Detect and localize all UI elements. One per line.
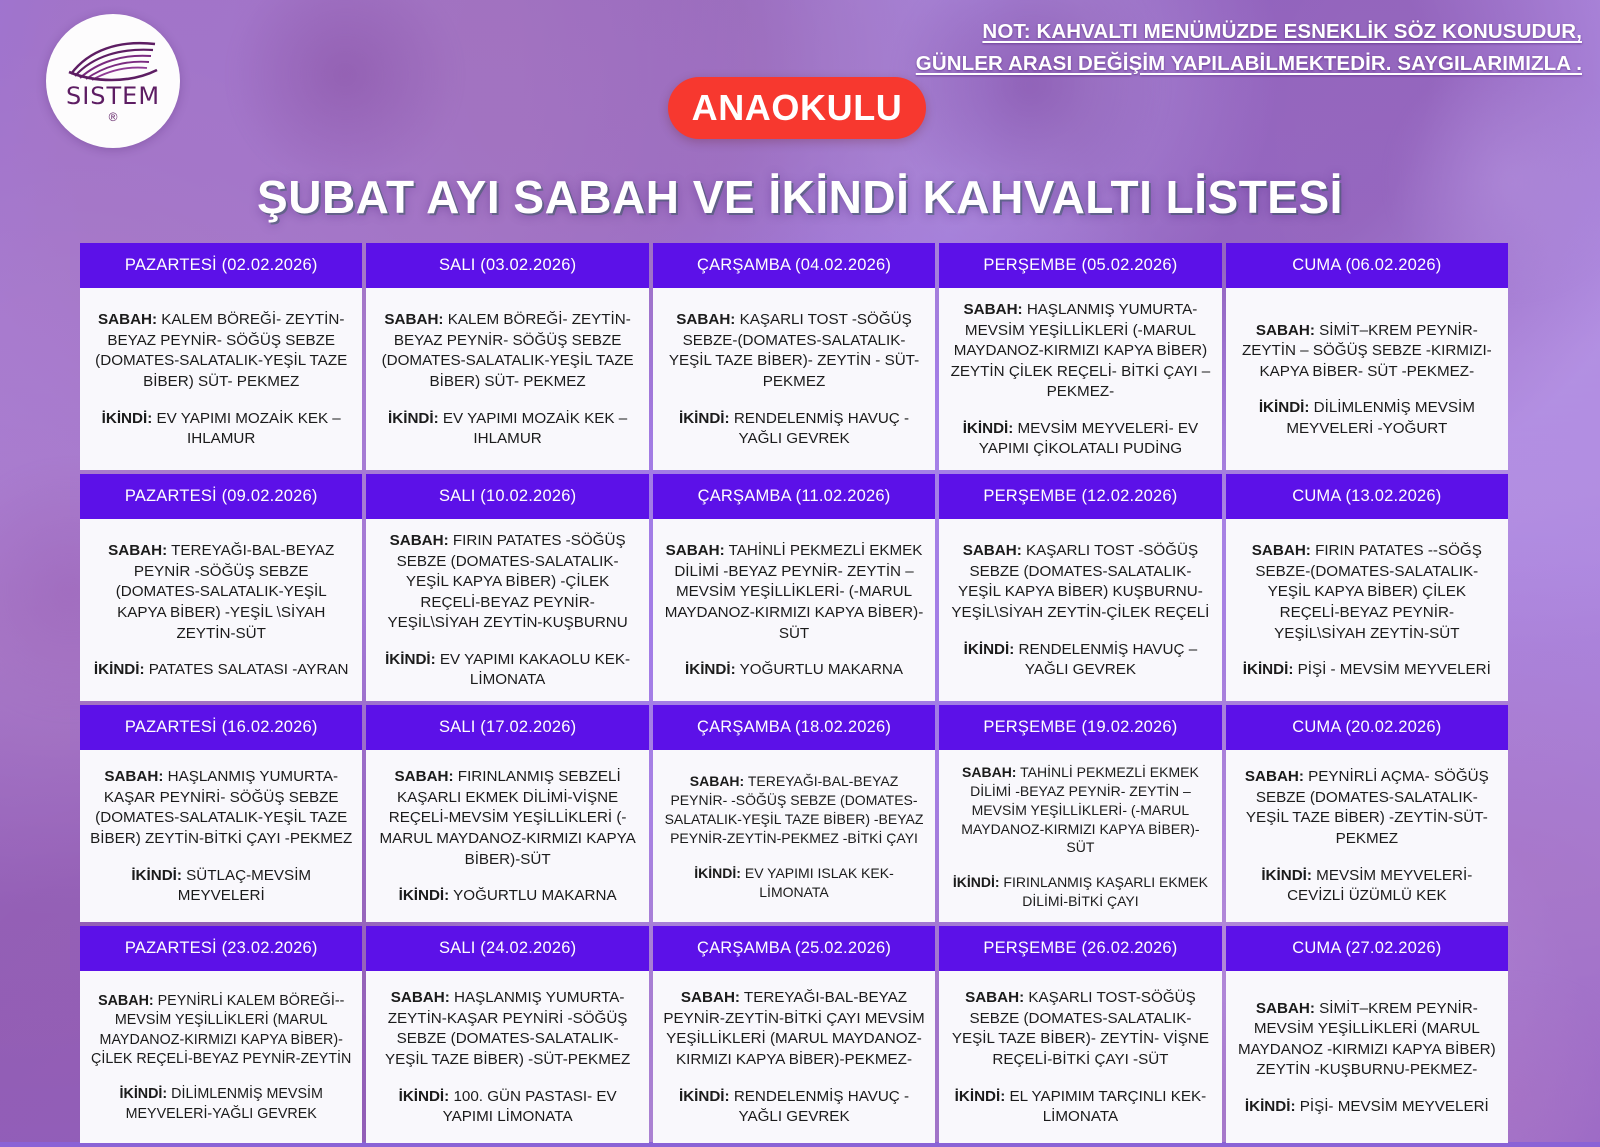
afternoon-meal: İKİNDİ: PİŞİ - MEVSİM MEYVELERİ bbox=[1236, 660, 1498, 681]
day-header: PAZARTESİ (02.02.2026) bbox=[80, 243, 362, 288]
morning-meal: SABAH: TEREYAĞI-BAL-BEYAZ PEYNİR -SÖĞÜŞ … bbox=[90, 541, 352, 644]
morning-label: SABAH: bbox=[1256, 1000, 1315, 1017]
morning-label: SABAH: bbox=[962, 764, 1016, 780]
day-header: SALI (17.02.2026) bbox=[366, 705, 648, 750]
afternoon-label: İKİNDİ: bbox=[964, 641, 1015, 658]
afternoon-label: İKİNDİ: bbox=[685, 661, 736, 678]
afternoon-meal: İKİNDİ: MEVSİM MEYVELERİ- EV YAPIMI ÇİKO… bbox=[949, 419, 1211, 460]
morning-meal: SABAH: PEYNİRLİ KALEM BÖREĞİ--MEVSİM YEŞ… bbox=[90, 992, 352, 1069]
morning-label: SABAH: bbox=[965, 989, 1024, 1006]
week-row: PAZARTESİ (02.02.2026)SABAH: KALEM BÖREĞ… bbox=[80, 243, 1508, 470]
afternoon-meal: İKİNDİ: EV YAPIMI ISLAK KEK- LİMONATA bbox=[663, 864, 925, 902]
afternoon-meal: İKİNDİ: YOĞURTLU MAKARNA bbox=[376, 886, 638, 907]
week-row: PAZARTESİ (09.02.2026)SABAH: TEREYAĞI-BA… bbox=[80, 474, 1508, 701]
day-column: CUMA (27.02.2026)SABAH: SİMİT–KREM PEYNİ… bbox=[1226, 926, 1508, 1143]
day-header: PERŞEMBE (26.02.2026) bbox=[939, 926, 1221, 971]
day-menu-cell: SABAH: KAŞARLI TOST-SÖĞÜŞ SEBZE (DOMATES… bbox=[939, 971, 1221, 1143]
day-header: PERŞEMBE (05.02.2026) bbox=[939, 243, 1221, 288]
morning-meal: SABAH: HAŞLANMIŞ YUMURTA- MEVSİM YEŞİLLİ… bbox=[949, 300, 1211, 403]
morning-meal: SABAH: TEREYAĞI-BAL-BEYAZ PEYNİR- -SÖĞÜŞ… bbox=[663, 772, 925, 848]
day-column: ÇARŞAMBA (04.02.2026)SABAH: KAŞARLI TOST… bbox=[653, 243, 935, 470]
day-column: PAZARTESİ (09.02.2026)SABAH: TEREYAĞI-BA… bbox=[80, 474, 362, 701]
morning-meal: SABAH: FIRIN PATATES -SÖĞÜŞ SEBZE (DOMAT… bbox=[376, 531, 638, 634]
morning-meal: SABAH: HAŞLANMIŞ YUMURTA-KAŞAR PEYNİRİ- … bbox=[90, 767, 352, 849]
afternoon-text: EV YAPIMI MOZAİK KEK – IHLAMUR bbox=[439, 410, 628, 448]
afternoon-label: İKİNDİ: bbox=[1243, 661, 1294, 678]
day-header: ÇARŞAMBA (18.02.2026) bbox=[653, 705, 935, 750]
morning-meal: SABAH: KALEM BÖREĞİ- ZEYTİN-BEYAZ PEYNİR… bbox=[376, 310, 638, 392]
morning-meal: SABAH: TAHİNLİ PEKMEZLİ EKMEK DİLİMİ -BE… bbox=[949, 763, 1211, 857]
morning-label: SABAH: bbox=[384, 311, 443, 328]
day-menu-cell: SABAH: KALEM BÖREĞİ- ZEYTİN-BEYAZ PEYNİR… bbox=[366, 288, 648, 470]
week-row: PAZARTESİ (23.02.2026)SABAH: PEYNİRLİ KA… bbox=[80, 926, 1508, 1143]
morning-label: SABAH: bbox=[390, 532, 449, 549]
morning-label: SABAH: bbox=[1256, 322, 1315, 339]
day-column: PERŞEMBE (05.02.2026)SABAH: HAŞLANMIŞ YU… bbox=[939, 243, 1221, 470]
day-header: CUMA (13.02.2026) bbox=[1226, 474, 1508, 519]
day-header: SALI (24.02.2026) bbox=[366, 926, 648, 971]
afternoon-meal: İKİNDİ: RENDELENMİŞ HAVUÇ – YAĞLI GEVREK bbox=[949, 640, 1211, 681]
day-menu-cell: SABAH: SİMİT–KREM PEYNİR- ZEYTİN – SÖĞÜŞ… bbox=[1226, 288, 1508, 470]
afternoon-text: EV YAPIMI KAKAOLU KEK-LİMONATA bbox=[436, 651, 630, 689]
morning-meal: SABAH: KALEM BÖREĞİ- ZEYTİN-BEYAZ PEYNİR… bbox=[90, 310, 352, 392]
day-column: ÇARŞAMBA (18.02.2026)SABAH: TEREYAĞI-BAL… bbox=[653, 705, 935, 922]
afternoon-text: RENDELENMİŞ HAVUÇ – YAĞLI GEVREK bbox=[1014, 641, 1197, 679]
morning-meal: SABAH: TAHİNLİ PEKMEZLİ EKMEK DİLİMİ -BE… bbox=[663, 541, 925, 644]
afternoon-meal: İKİNDİ: DİLİMLENMİŞ MEVSİM MEYVELERİ -YO… bbox=[1236, 398, 1498, 439]
morning-meal: SABAH: TEREYAĞI-BAL-BEYAZ PEYNİR-ZEYTİN-… bbox=[663, 988, 925, 1070]
morning-label: SABAH: bbox=[98, 311, 157, 328]
afternoon-text: PİŞİ- MEVSİM MEYVELERİ bbox=[1296, 1098, 1489, 1115]
afternoon-meal: İKİNDİ: MEVSİM MEYVELERİ-CEVİZLİ ÜZÜMLÜ … bbox=[1236, 866, 1498, 907]
afternoon-text: EV YAPIMI ISLAK KEK- LİMONATA bbox=[741, 865, 894, 900]
day-header: ÇARŞAMBA (04.02.2026) bbox=[653, 243, 935, 288]
morning-label: SABAH: bbox=[676, 311, 735, 328]
afternoon-label: İKİNDİ: bbox=[131, 867, 182, 884]
afternoon-meal: İKİNDİ: YOĞURTLU MAKARNA bbox=[663, 660, 925, 681]
school-level-badge: ANAOKULU bbox=[668, 77, 926, 139]
day-column: PERŞEMBE (26.02.2026)SABAH: KAŞARLI TOST… bbox=[939, 926, 1221, 1143]
day-header: SALI (03.02.2026) bbox=[366, 243, 648, 288]
afternoon-label: İKİNDİ: bbox=[94, 661, 145, 678]
day-header: CUMA (20.02.2026) bbox=[1226, 705, 1508, 750]
day-menu-cell: SABAH: KAŞARLI TOST -SÖĞÜŞ SEBZE-(DOMATE… bbox=[653, 288, 935, 470]
afternoon-text: MEVSİM MEYVELERİ-CEVİZLİ ÜZÜMLÜ KEK bbox=[1287, 867, 1472, 905]
morning-meal: SABAH: SİMİT–KREM PEYNİR- MEVSİM YEŞİLLİ… bbox=[1236, 999, 1498, 1081]
morning-meal: SABAH: FIRIN PATATES --SÖĞŞ SEBZE-(DOMAT… bbox=[1236, 541, 1498, 644]
day-column: SALI (24.02.2026)SABAH: HAŞLANMIŞ YUMURT… bbox=[366, 926, 648, 1143]
afternoon-meal: İKİNDİ: SÜTLAÇ-MEVSİM MEYVELERİ bbox=[90, 866, 352, 907]
day-header: SALI (10.02.2026) bbox=[366, 474, 648, 519]
morning-meal: SABAH: HAŞLANMIŞ YUMURTA-ZEYTİN-KAŞAR PE… bbox=[376, 988, 638, 1070]
day-menu-cell: SABAH: TEREYAĞI-BAL-BEYAZ PEYNİR- -SÖĞÜŞ… bbox=[653, 750, 935, 922]
day-header: ÇARŞAMBA (11.02.2026) bbox=[653, 474, 935, 519]
morning-label: SABAH: bbox=[681, 989, 740, 1006]
day-menu-cell: SABAH: PEYNİRLİ AÇMA- SÖĞÜŞ SEBZE (DOMAT… bbox=[1226, 750, 1508, 922]
afternoon-meal: İKİNDİ: PİŞİ- MEVSİM MEYVELERİ bbox=[1236, 1097, 1498, 1118]
morning-meal: SABAH: KAŞARLI TOST -SÖĞÜŞ SEBZE (DOMATE… bbox=[949, 541, 1211, 623]
day-menu-cell: SABAH: FIRIN PATATES --SÖĞŞ SEBZE-(DOMAT… bbox=[1226, 519, 1508, 701]
afternoon-text: DİLİMLENMİŞ MEVSİM MEYVELERİ -YOĞURT bbox=[1286, 399, 1474, 437]
day-header: PAZARTESİ (23.02.2026) bbox=[80, 926, 362, 971]
afternoon-meal: İKİNDİ: 100. GÜN PASTASI- EV YAPIMI LİMO… bbox=[376, 1087, 638, 1128]
day-menu-cell: SABAH: TAHİNLİ PEKMEZLİ EKMEK DİLİMİ -BE… bbox=[653, 519, 935, 701]
afternoon-label: İKİNDİ: bbox=[963, 420, 1014, 437]
morning-meal: SABAH: FIRINLANMIŞ SEBZELİ KAŞARLI EKMEK… bbox=[376, 767, 638, 870]
day-menu-cell: SABAH: FIRIN PATATES -SÖĞÜŞ SEBZE (DOMAT… bbox=[366, 519, 648, 701]
registered-mark-icon: ® bbox=[109, 111, 118, 123]
day-column: SALI (10.02.2026)SABAH: FIRIN PATATES -S… bbox=[366, 474, 648, 701]
day-header: PERŞEMBE (19.02.2026) bbox=[939, 705, 1221, 750]
afternoon-text: PİŞİ - MEVSİM MEYVELERİ bbox=[1293, 661, 1490, 678]
morning-label: SABAH: bbox=[666, 542, 725, 559]
afternoon-label: İKİNDİ: bbox=[679, 1088, 730, 1105]
morning-label: SABAH: bbox=[690, 773, 744, 789]
afternoon-meal: İKİNDİ: RENDELENMİŞ HAVUÇ -YAĞLI GEVREK bbox=[663, 409, 925, 450]
menu-calendar: PAZARTESİ (02.02.2026)SABAH: KALEM BÖREĞ… bbox=[80, 243, 1508, 1147]
afternoon-label: İKİNDİ: bbox=[388, 410, 439, 427]
afternoon-label: İKİNDİ: bbox=[694, 865, 741, 881]
afternoon-label: İKİNDİ: bbox=[120, 1086, 168, 1102]
school-logo: SISTEM ® bbox=[46, 14, 180, 148]
day-header: CUMA (27.02.2026) bbox=[1226, 926, 1508, 971]
afternoon-text: FIRINLANMIŞ KAŞARLI EKMEK DİLİMİ-BİTKİ Ç… bbox=[1000, 874, 1209, 909]
afternoon-meal: İKİNDİ: FIRINLANMIŞ KAŞARLI EKMEK DİLİMİ… bbox=[949, 873, 1211, 911]
afternoon-label: İKİNDİ: bbox=[1259, 399, 1310, 416]
afternoon-label: İKİNDİ: bbox=[102, 410, 153, 427]
afternoon-meal: İKİNDİ: PATATES SALATASI -AYRAN bbox=[90, 660, 352, 681]
afternoon-meal: İKİNDİ: EL YAPIMIM TARÇINLI KEK-LİMONATA bbox=[949, 1087, 1211, 1128]
day-menu-cell: SABAH: FIRINLANMIŞ SEBZELİ KAŞARLI EKMEK… bbox=[366, 750, 648, 922]
day-menu-cell: SABAH: HAŞLANMIŞ YUMURTA- MEVSİM YEŞİLLİ… bbox=[939, 288, 1221, 470]
morning-label: SABAH: bbox=[98, 993, 154, 1009]
afternoon-text: SÜTLAÇ-MEVSİM MEYVELERİ bbox=[178, 867, 311, 905]
day-menu-cell: SABAH: TEREYAĞI-BAL-BEYAZ PEYNİR-ZEYTİN-… bbox=[653, 971, 935, 1143]
afternoon-text: RENDELENMİŞ HAVUÇ -YAĞLI GEVREK bbox=[730, 410, 909, 448]
day-menu-cell: SABAH: HAŞLANMIŞ YUMURTA-KAŞAR PEYNİRİ- … bbox=[80, 750, 362, 922]
day-column: PERŞEMBE (12.02.2026)SABAH: KAŞARLI TOST… bbox=[939, 474, 1221, 701]
menu-flexibility-note: NOT: KAHVALTI MENÜMÜZDE ESNEKLİK SÖZ KON… bbox=[916, 16, 1582, 80]
day-column: SALI (17.02.2026)SABAH: FIRINLANMIŞ SEBZ… bbox=[366, 705, 648, 922]
afternoon-label: İKİNDİ: bbox=[1245, 1098, 1296, 1115]
note-line-1: NOT: KAHVALTI MENÜMÜZDE ESNEKLİK SÖZ KON… bbox=[916, 16, 1582, 48]
page-title: ŞUBAT AYI SABAH VE İKİNDİ KAHVALTI LİSTE… bbox=[0, 170, 1600, 224]
afternoon-label: İKİNDİ: bbox=[1261, 867, 1312, 884]
morning-meal: SABAH: KAŞARLI TOST -SÖĞÜŞ SEBZE-(DOMATE… bbox=[663, 310, 925, 392]
day-column: SALI (03.02.2026)SABAH: KALEM BÖREĞİ- ZE… bbox=[366, 243, 648, 470]
day-menu-cell: SABAH: TEREYAĞI-BAL-BEYAZ PEYNİR -SÖĞÜŞ … bbox=[80, 519, 362, 701]
day-header: PAZARTESİ (09.02.2026) bbox=[80, 474, 362, 519]
morning-meal: SABAH: SİMİT–KREM PEYNİR- ZEYTİN – SÖĞÜŞ… bbox=[1236, 321, 1498, 383]
afternoon-meal: İKİNDİ: EV YAPIMI KAKAOLU KEK-LİMONATA bbox=[376, 650, 638, 691]
afternoon-text: PATATES SALATASI -AYRAN bbox=[145, 661, 349, 678]
day-column: CUMA (20.02.2026)SABAH: PEYNİRLİ AÇMA- S… bbox=[1226, 705, 1508, 922]
day-column: CUMA (06.02.2026)SABAH: SİMİT–KREM PEYNİ… bbox=[1226, 243, 1508, 470]
day-column: ÇARŞAMBA (25.02.2026)SABAH: TEREYAĞI-BAL… bbox=[653, 926, 935, 1143]
afternoon-meal: İKİNDİ: EV YAPIMI MOZAİK KEK – IHLAMUR bbox=[90, 409, 352, 450]
afternoon-text: 100. GÜN PASTASI- EV YAPIMI LİMONATA bbox=[443, 1088, 617, 1126]
afternoon-label: İKİNDİ: bbox=[399, 887, 450, 904]
morning-label: SABAH: bbox=[104, 768, 163, 785]
day-menu-cell: SABAH: KALEM BÖREĞİ- ZEYTİN-BEYAZ PEYNİR… bbox=[80, 288, 362, 470]
morning-label: SABAH: bbox=[391, 989, 450, 1006]
fan-leaf-logo-icon bbox=[67, 40, 159, 84]
afternoon-label: İKİNDİ: bbox=[955, 1088, 1006, 1105]
morning-meal: SABAH: KAŞARLI TOST-SÖĞÜŞ SEBZE (DOMATES… bbox=[949, 988, 1211, 1070]
morning-meal: SABAH: PEYNİRLİ AÇMA- SÖĞÜŞ SEBZE (DOMAT… bbox=[1236, 767, 1498, 849]
afternoon-meal: İKİNDİ: DİLİMLENMİŞ MEVSİM MEYVELERİ-YAĞ… bbox=[90, 1085, 352, 1124]
day-column: PAZARTESİ (23.02.2026)SABAH: PEYNİRLİ KA… bbox=[80, 926, 362, 1143]
afternoon-meal: İKİNDİ: RENDELENMİŞ HAVUÇ -YAĞLI GEVREK bbox=[663, 1087, 925, 1128]
week-row: PAZARTESİ (16.02.2026)SABAH: HAŞLANMIŞ Y… bbox=[80, 705, 1508, 922]
note-line-2: GÜNLER ARASI DEĞİŞİM YAPILABİLMEKTEDİR. … bbox=[916, 48, 1582, 80]
day-column: CUMA (13.02.2026)SABAH: FIRIN PATATES --… bbox=[1226, 474, 1508, 701]
day-column: ÇARŞAMBA (11.02.2026)SABAH: TAHİNLİ PEKM… bbox=[653, 474, 935, 701]
afternoon-label: İKİNDİ: bbox=[385, 651, 436, 668]
day-column: PAZARTESİ (02.02.2026)SABAH: KALEM BÖREĞ… bbox=[80, 243, 362, 470]
day-header: CUMA (06.02.2026) bbox=[1226, 243, 1508, 288]
afternoon-label: İKİNDİ: bbox=[953, 874, 1000, 890]
day-header: ÇARŞAMBA (25.02.2026) bbox=[653, 926, 935, 971]
day-menu-cell: SABAH: SİMİT–KREM PEYNİR- MEVSİM YEŞİLLİ… bbox=[1226, 971, 1508, 1143]
morning-label: SABAH: bbox=[1245, 768, 1304, 785]
day-column: PERŞEMBE (19.02.2026)SABAH: TAHİNLİ PEKM… bbox=[939, 705, 1221, 922]
day-menu-cell: SABAH: PEYNİRLİ KALEM BÖREĞİ--MEVSİM YEŞ… bbox=[80, 971, 362, 1143]
morning-label: SABAH: bbox=[964, 301, 1023, 318]
afternoon-text: EV YAPIMI MOZAİK KEK – IHLAMUR bbox=[152, 410, 341, 448]
day-menu-cell: SABAH: HAŞLANMIŞ YUMURTA-ZEYTİN-KAŞAR PE… bbox=[366, 971, 648, 1143]
afternoon-text: YOĞURTLU MAKARNA bbox=[736, 661, 903, 678]
day-header: PAZARTESİ (16.02.2026) bbox=[80, 705, 362, 750]
afternoon-label: İKİNDİ: bbox=[399, 1088, 450, 1105]
afternoon-meal: İKİNDİ: EV YAPIMI MOZAİK KEK – IHLAMUR bbox=[376, 409, 638, 450]
afternoon-text: EL YAPIMIM TARÇINLI KEK-LİMONATA bbox=[1005, 1088, 1206, 1126]
afternoon-label: İKİNDİ: bbox=[679, 410, 730, 427]
afternoon-text: RENDELENMİŞ HAVUÇ -YAĞLI GEVREK bbox=[730, 1088, 909, 1126]
morning-label: SABAH: bbox=[1252, 542, 1311, 559]
day-menu-cell: SABAH: TAHİNLİ PEKMEZLİ EKMEK DİLİMİ -BE… bbox=[939, 750, 1221, 922]
afternoon-text: YOĞURTLU MAKARNA bbox=[449, 887, 616, 904]
day-column: PAZARTESİ (16.02.2026)SABAH: HAŞLANMIŞ Y… bbox=[80, 705, 362, 922]
morning-label: SABAH: bbox=[395, 768, 454, 785]
morning-label: SABAH: bbox=[108, 542, 167, 559]
day-header: PERŞEMBE (12.02.2026) bbox=[939, 474, 1221, 519]
logo-wordmark: SISTEM bbox=[66, 82, 160, 110]
day-menu-cell: SABAH: KAŞARLI TOST -SÖĞÜŞ SEBZE (DOMATE… bbox=[939, 519, 1221, 701]
morning-label: SABAH: bbox=[963, 542, 1022, 559]
